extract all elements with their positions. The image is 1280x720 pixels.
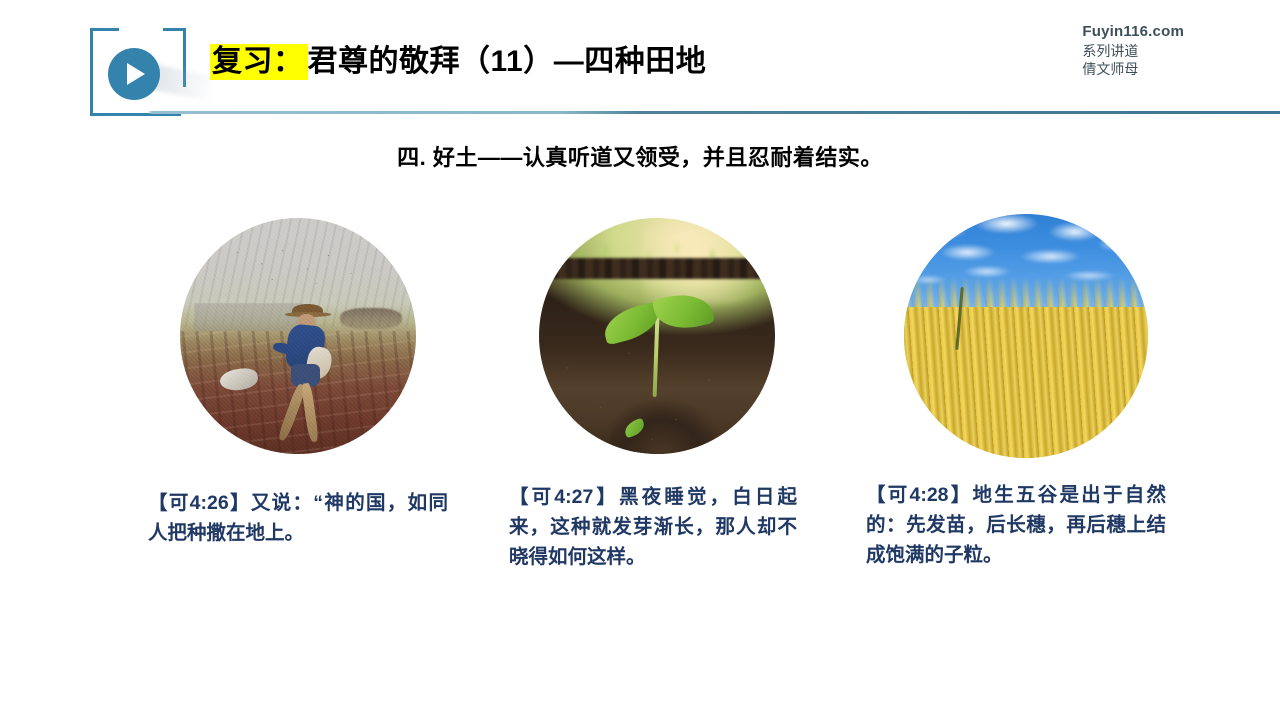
page-title-rest: 君尊的敬拜（11）—四种田地 [308,45,707,78]
section-subtitle: 四. 好土——认真听道又领受，并且忍耐着结实。 [0,140,1280,172]
painting-texture [180,218,416,454]
caption-text: 【可4:27】黑夜睡觉，白日起来，这种就发芽渐长，那人却不晓得如何这样。 [509,482,797,573]
card-seedling: 【可4:27】黑夜睡觉，白日起来，这种就发芽渐长，那人却不晓得如何这样。 [477,218,837,573]
seedling-sprout-image [539,218,775,454]
card-wheat: 【可4:28】地生五谷是出于自然的：先发苗，后长穗，再后穗上结成饱满的子粒。 [846,218,1206,571]
caption-text: 【可4:28】地生五谷是出于自然的：先发苗，后长穗，再后穗上结成饱满的子粒。 [866,480,1166,571]
page-title: 复习：君尊的敬拜（11）—四种田地 [210,45,706,78]
slide-header: 复习：君尊的敬拜（11）—四种田地 Fuyin116.com 系列讲道 倩文师母 [0,0,1280,120]
caption-text: 【可4:26】又说：“神的国，如同人把种撒在地上。 [148,488,448,548]
image-caption-row: 【可4:26】又说：“神的国，如同人把种撒在地上。 【可4:27】黑夜睡觉，白日… [0,218,1280,618]
page-title-highlight: 复习： [210,44,308,80]
play-triangle-icon [127,63,145,85]
brand-logo [90,28,186,116]
card-sower: 【可4:26】又说：“神的国，如同人把种撒在地上。 [118,218,478,548]
brand-speaker-label: 倩文师母 [1082,60,1184,78]
sower-painting-image [180,218,416,454]
header-divider [0,111,1280,114]
brand-series-label: 系列讲道 [1082,42,1184,60]
brand-domain: Fuyin116.com [1082,22,1184,42]
wheat-field-image [904,214,1148,458]
wheat-stalks [904,307,1148,458]
play-button-icon [108,48,160,100]
soil-ridge [539,258,775,279]
brand-info: Fuyin116.com 系列讲道 倩文师母 [1082,22,1184,79]
